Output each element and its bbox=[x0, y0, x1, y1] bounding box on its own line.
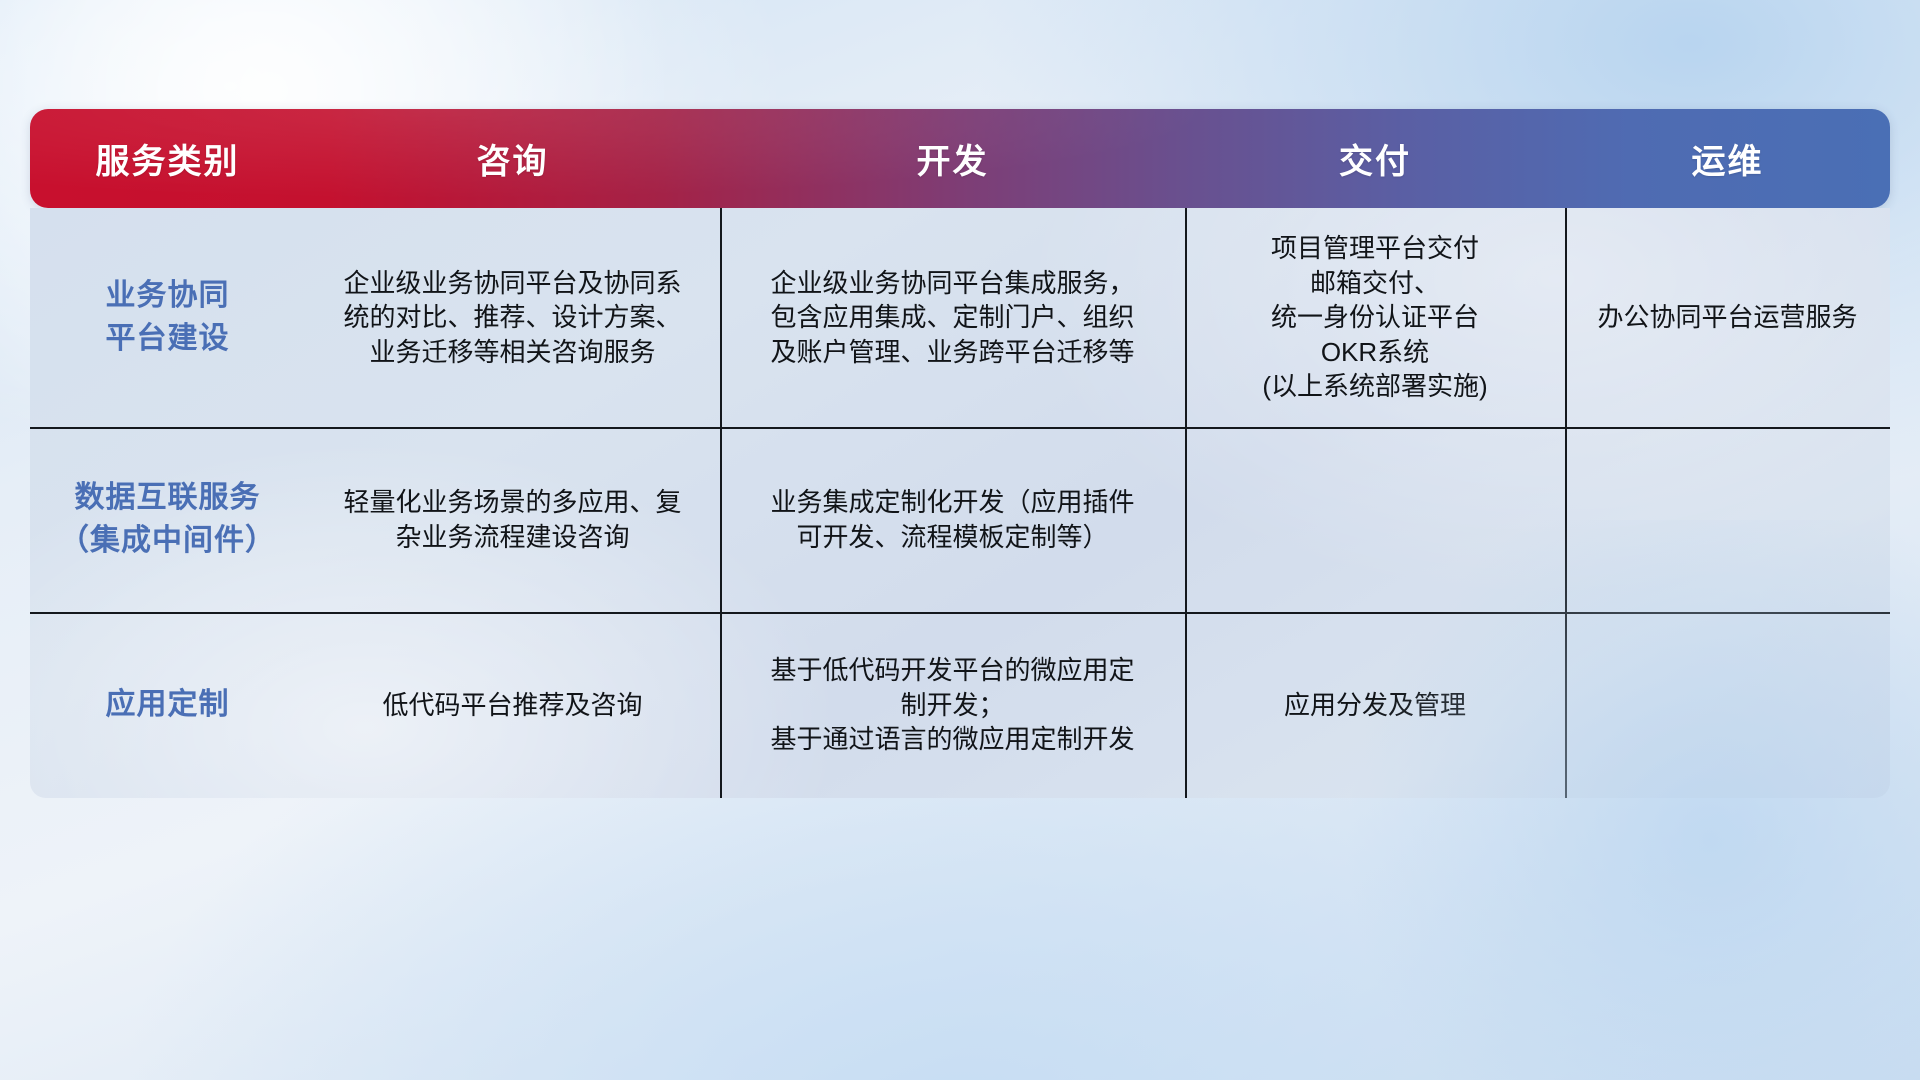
cell-text: 企业级业务协同平台及协同系 统的对比、推荐、设计方案、 业务迁移等相关咨询服务 bbox=[343, 266, 681, 370]
cell-operations: 办公协同平台运营服务 bbox=[1565, 208, 1890, 427]
cell-consulting: 轻量化业务场景的多应用、复 杂业务流程建设咨询 bbox=[305, 427, 720, 612]
cell-delivery bbox=[1185, 427, 1565, 612]
row-category-label: 数据互联服务 （集成中间件） bbox=[30, 427, 305, 612]
column-header-consulting[interactable]: 咨询 bbox=[305, 109, 720, 208]
table-row: 应用定制 低代码平台推荐及咨询 基于低代码开发平台的微应用定 制开发； 基于通过… bbox=[30, 612, 1890, 798]
cell-text: 低代码平台推荐及咨询 bbox=[382, 688, 642, 723]
cell-development: 业务集成定制化开发（应用插件 可开发、流程模板定制等） bbox=[720, 427, 1185, 612]
cell-delivery: 应用分发及管理 bbox=[1185, 612, 1565, 798]
cell-text: 基于低代码开发平台的微应用定 制开发； 基于通过语言的微应用定制开发 bbox=[770, 653, 1134, 757]
row-category-label: 业务协同 平台建设 bbox=[30, 208, 305, 427]
cell-text: 企业级业务协同平台集成服务， 包含应用集成、定制门户、组织 及账户管理、业务跨平… bbox=[770, 266, 1134, 370]
column-header-operations[interactable]: 运维 bbox=[1565, 109, 1890, 208]
column-header-delivery[interactable]: 交付 bbox=[1185, 109, 1565, 208]
slide-canvas: 服务类别 咨询 开发 交付 运维 业务协同 平台建设 企业级业务协同平台及协同系… bbox=[0, 0, 1920, 1080]
cell-consulting: 低代码平台推荐及咨询 bbox=[305, 612, 720, 798]
cell-text: 轻量化业务场景的多应用、复 杂业务流程建设咨询 bbox=[343, 485, 681, 554]
cell-text: 应用分发及管理 bbox=[1284, 688, 1466, 723]
cell-development: 企业级业务协同平台集成服务， 包含应用集成、定制门户、组织 及账户管理、业务跨平… bbox=[720, 208, 1185, 427]
column-header-development[interactable]: 开发 bbox=[720, 109, 1185, 208]
cell-delivery: 项目管理平台交付 邮箱交付、 统一身份认证平台 OKR系统 (以上系统部署实施) bbox=[1185, 208, 1565, 427]
cell-text: 办公协同平台运营服务 bbox=[1597, 300, 1857, 335]
table-row: 数据互联服务 （集成中间件） 轻量化业务场景的多应用、复 杂业务流程建设咨询 业… bbox=[30, 427, 1890, 612]
table-body: 业务协同 平台建设 企业级业务协同平台及协同系 统的对比、推荐、设计方案、 业务… bbox=[30, 208, 1890, 798]
service-matrix-table: 服务类别 咨询 开发 交付 运维 业务协同 平台建设 企业级业务协同平台及协同系… bbox=[30, 109, 1890, 798]
row-category-label: 应用定制 bbox=[30, 612, 305, 798]
row-category-text: 应用定制 bbox=[106, 684, 230, 727]
table-header-row: 服务类别 咨询 开发 交付 运维 bbox=[30, 109, 1890, 208]
cell-development: 基于低代码开发平台的微应用定 制开发； 基于通过语言的微应用定制开发 bbox=[720, 612, 1185, 798]
cell-consulting: 企业级业务协同平台及协同系 统的对比、推荐、设计方案、 业务迁移等相关咨询服务 bbox=[305, 208, 720, 427]
column-header-category[interactable]: 服务类别 bbox=[30, 109, 305, 208]
cell-operations bbox=[1565, 427, 1890, 612]
row-category-text: 业务协同 平台建设 bbox=[106, 275, 230, 360]
cell-text: 业务集成定制化开发（应用插件 可开发、流程模板定制等） bbox=[770, 485, 1134, 554]
cell-operations bbox=[1565, 612, 1890, 798]
table-row: 业务协同 平台建设 企业级业务协同平台及协同系 统的对比、推荐、设计方案、 业务… bbox=[30, 208, 1890, 427]
row-category-text: 数据互联服务 （集成中间件） bbox=[59, 477, 276, 562]
cell-text: 项目管理平台交付 邮箱交付、 统一身份认证平台 OKR系统 (以上系统部署实施) bbox=[1262, 231, 1487, 404]
